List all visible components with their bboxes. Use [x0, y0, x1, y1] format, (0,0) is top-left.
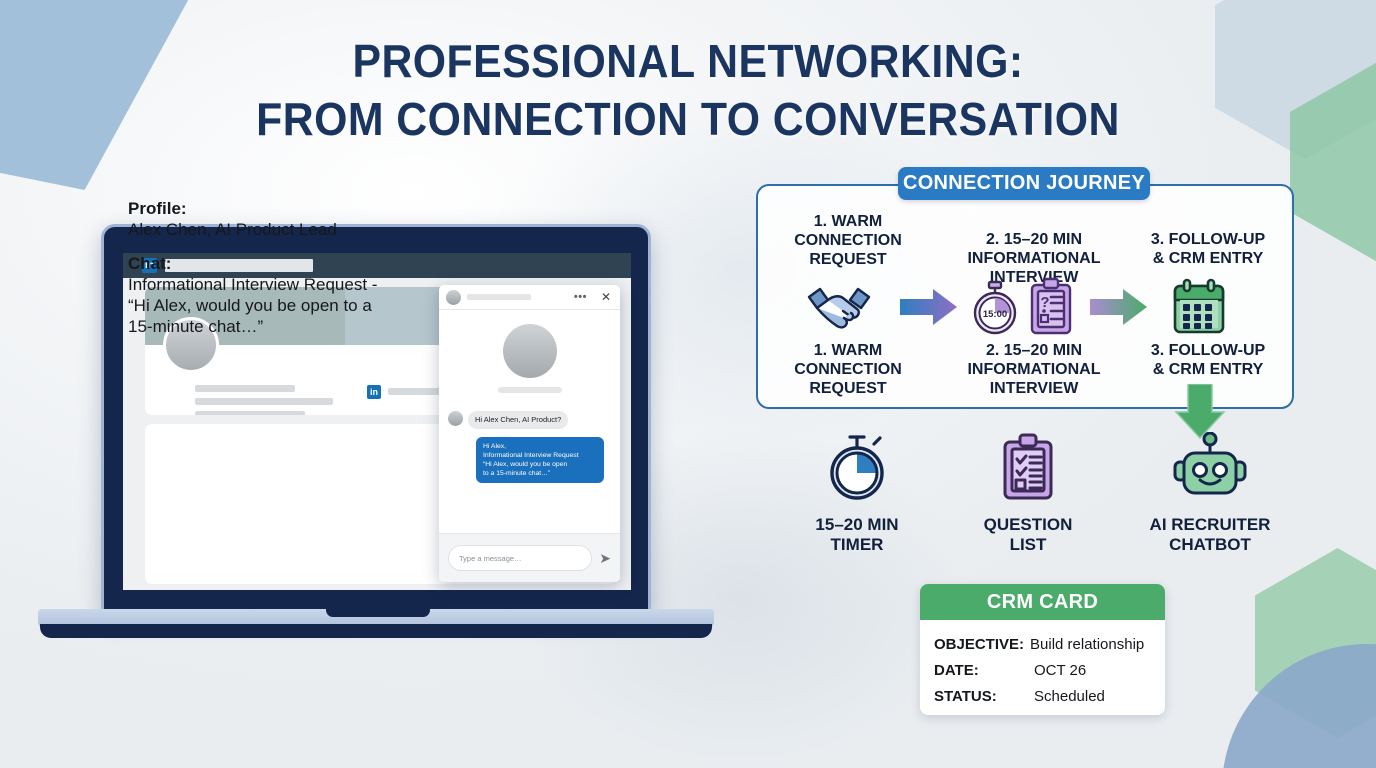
chat-line-2: “Hi Alex, would you be open to a — [128, 295, 428, 316]
crm-status-value: Scheduled — [1034, 684, 1105, 710]
outgoing-line-1: Hi Alex, — [483, 442, 597, 451]
chat-contact-name-placeholder — [498, 387, 562, 393]
outgoing-line-3: “Hi Alex, would you be open — [483, 460, 597, 469]
crm-card: CRM CARD OBJECTIVE: Build relationship D… — [920, 584, 1165, 715]
chat-more-icon[interactable]: ••• — [574, 291, 587, 303]
profile-chat-summary: Profile: Alex Chen, AI Product Lead Chat… — [128, 198, 428, 337]
close-icon[interactable]: ✕ — [601, 290, 611, 304]
incoming-message-avatar — [448, 411, 463, 426]
outgoing-line-4: to a 15-minute chat…” — [483, 469, 597, 478]
crm-objective-key: OBJECTIVE: — [934, 632, 1024, 658]
title-line-1: PROFESSIONAL NETWORKING: — [48, 38, 1328, 84]
crm-objective-value: Build relationship — [1030, 632, 1144, 658]
outgoing-message-bubble: Hi Alex, Informational Interview Request… — [476, 437, 604, 483]
laptop-base-lip — [40, 624, 712, 638]
tool-chatbot-label: AI RECRUITER CHATBOT — [1120, 515, 1300, 555]
background-circle-blue — [1222, 644, 1376, 768]
profile-skeleton-line — [195, 385, 295, 392]
chat-header-name-placeholder — [467, 294, 531, 300]
crm-row-date: DATE: OCT 26 — [934, 658, 1151, 684]
calendar-icon — [1170, 278, 1228, 341]
chat-label: Chat: — [128, 253, 428, 274]
chat-message-input[interactable]: Type a message… — [448, 545, 592, 571]
journey-arrow-2-icon — [1090, 287, 1148, 332]
profile-value: Alex Chen, AI Product Lead — [128, 219, 428, 240]
connection-journey-title: CONNECTION JOURNEY — [898, 167, 1150, 200]
journey-step-1-label-bottom: 1. WARM CONNECTION REQUEST — [768, 341, 928, 398]
crm-row-status: STATUS: Scheduled — [934, 684, 1151, 710]
crm-row-objective: OBJECTIVE: Build relationship — [934, 632, 1151, 658]
journey-step-3-label-bottom: 3. FOLLOW-UP & CRM ENTRY — [1128, 341, 1288, 379]
handshake-icon — [803, 283, 875, 340]
laptop-notch — [326, 609, 430, 617]
infographic-canvas: PROFESSIONAL NETWORKING: FROM CONNECTION… — [0, 0, 1376, 768]
crm-date-value: OCT 26 — [1034, 658, 1086, 684]
chat-window-header: ••• ✕ — [439, 285, 620, 310]
profile-label: Profile: — [128, 198, 428, 219]
incoming-message-row: Hi Alex Chen, AI Product? — [448, 411, 611, 429]
robot-icon — [1171, 432, 1249, 502]
journey-step-1-label-top: 1. WARM CONNECTION REQUEST — [768, 212, 928, 269]
profile-skeleton-line — [195, 398, 333, 405]
send-icon[interactable]: ➤ — [599, 550, 611, 567]
tool-question-list: QUESTION LIST — [948, 432, 1108, 555]
journey-step-3-label-top: 3. FOLLOW-UP & CRM ENTRY — [1128, 230, 1288, 268]
tool-timer: 15–20 MIN TIMER — [777, 432, 937, 555]
outgoing-line-2: Informational Interview Request — [483, 451, 597, 460]
chat-message-list: Hi Alex Chen, AI Product? Hi Alex, Infor… — [439, 310, 620, 533]
page-title: PROFESSIONAL NETWORKING: FROM CONNECTION… — [48, 38, 1328, 142]
clipboard-question-icon: ? — [1028, 277, 1074, 342]
crm-card-title: CRM CARD — [920, 584, 1165, 620]
chat-composer: Type a message… ➤ — [439, 533, 620, 582]
journey-arrow-1-icon — [900, 287, 958, 332]
crm-date-key: DATE: — [934, 658, 1012, 684]
stopwatch-icon — [824, 432, 890, 502]
chat-line-1: Informational Interview Request - — [128, 274, 428, 295]
stopwatch-icon: 15:00 — [968, 280, 1022, 341]
journey-step-2-label-bottom: 2. 15–20 MIN INFORMATIONAL INTERVIEW — [938, 341, 1130, 398]
chat-window: ••• ✕ Hi Alex Chen, AI Product? Hi Alex,… — [439, 285, 620, 582]
inmail-badge-icon: in — [367, 385, 381, 399]
svg-text:?: ? — [1040, 294, 1049, 311]
chat-contact-avatar — [503, 324, 557, 378]
stopwatch-time-text: 15:00 — [983, 309, 1007, 320]
incoming-message-bubble: Hi Alex Chen, AI Product? — [468, 411, 568, 429]
crm-status-key: STATUS: — [934, 684, 1012, 710]
title-line-2: FROM CONNECTION TO CONVERSATION — [48, 96, 1328, 142]
tool-ai-chatbot: AI RECRUITER CHATBOT — [1120, 432, 1300, 555]
crm-card-fields: OBJECTIVE: Build relationship DATE: OCT … — [920, 620, 1165, 710]
tool-timer-label: 15–20 MIN TIMER — [777, 515, 937, 555]
profile-skeleton-line — [195, 411, 305, 415]
clipboard-checklist-icon — [1000, 432, 1056, 502]
chat-line-3: 15-minute chat…” — [128, 316, 428, 337]
chat-header-avatar — [446, 290, 461, 305]
tool-question-label: QUESTION LIST — [948, 515, 1108, 555]
